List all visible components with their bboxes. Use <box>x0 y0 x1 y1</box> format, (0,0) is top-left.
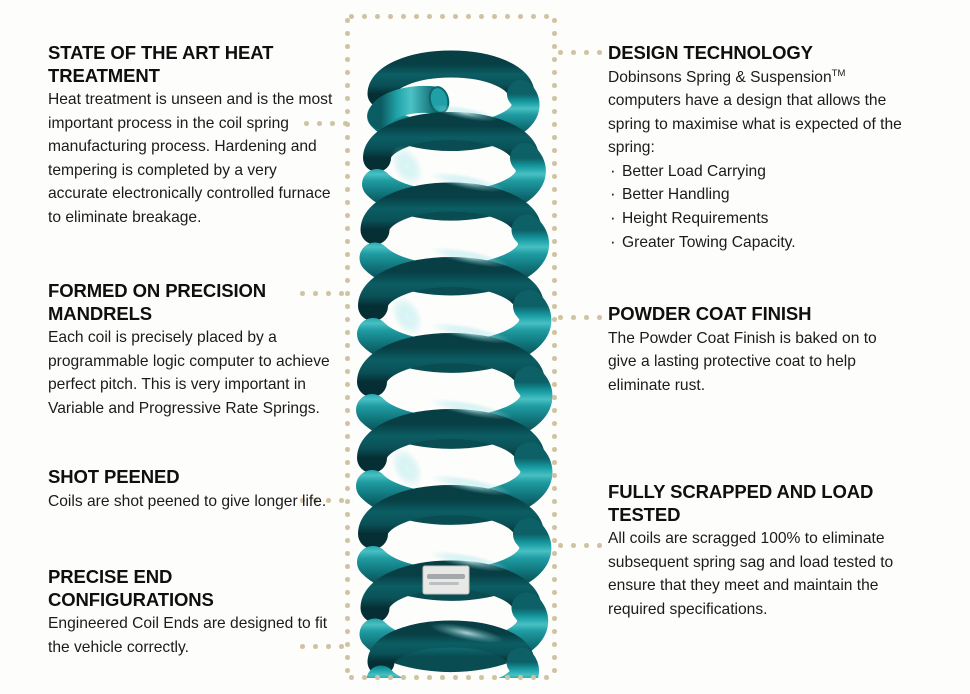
connector-powder-coat <box>554 315 608 320</box>
bullet-item: Greater Towing Capacity. <box>608 231 908 255</box>
spring-sticker <box>423 566 469 594</box>
infographic-page: STATE OF THE ART HEAT TREATMENT Heat tre… <box>0 0 970 694</box>
feature-body-heat-treatment: Heat treatment is unseen and is the most… <box>48 88 338 230</box>
coil-spring-image <box>347 16 555 678</box>
feature-body-powder-coat: The Powder Coat Finish is baked on to gi… <box>608 327 908 398</box>
design-technology-bullets: Better Load Carrying Better Handling Hei… <box>608 160 908 254</box>
feature-body-shot-peened: Coils are shot peened to give longer lif… <box>48 490 338 514</box>
feature-title-shot-peened: SHOT PEENED <box>48 466 338 489</box>
design-technology-rest: computers have a design that allows the … <box>608 92 902 156</box>
feature-title-powder-coat: POWDER COAT FINISH <box>608 303 908 326</box>
feature-block-load-tested: FULLY SCRAPPED AND LOAD TESTED All coils… <box>608 481 908 621</box>
feature-title-heat-treatment: STATE OF THE ART HEAT TREATMENT <box>48 42 338 87</box>
feature-block-design-technology: DESIGN TECHNOLOGY Dobinsons Spring & Sus… <box>608 42 908 254</box>
feature-block-mandrels: FORMED ON PRECISION MANDRELS Each coil i… <box>48 280 338 420</box>
feature-block-powder-coat: POWDER COAT FINISH The Powder Coat Finis… <box>608 303 908 397</box>
feature-body-end-config: Engineered Coil Ends are designed to fit… <box>48 612 338 659</box>
connector-load-tested <box>554 543 608 548</box>
feature-title-load-tested: FULLY SCRAPPED AND LOAD TESTED <box>608 481 908 526</box>
design-technology-lead: Dobinsons Spring & Suspension <box>608 69 832 86</box>
feature-body-load-tested: All coils are scragged 100% to eliminate… <box>608 527 908 621</box>
feature-block-shot-peened: SHOT PEENED Coils are shot peened to giv… <box>48 466 338 513</box>
feature-body-mandrels: Each coil is precisely placed by a progr… <box>48 326 338 420</box>
feature-title-design-technology: DESIGN TECHNOLOGY <box>608 42 908 65</box>
feature-body-design-technology: Dobinsons Spring & SuspensionTM computer… <box>608 66 908 160</box>
trademark-mark: TM <box>832 67 846 78</box>
feature-title-end-config: PRECISE END CONFIGURATIONS <box>48 566 338 611</box>
feature-block-end-config: PRECISE END CONFIGURATIONS Engineered Co… <box>48 566 338 659</box>
bullet-item: Better Load Carrying <box>608 160 908 184</box>
connector-design-technology <box>554 50 608 55</box>
feature-title-mandrels: FORMED ON PRECISION MANDRELS <box>48 280 338 325</box>
feature-block-heat-treatment: STATE OF THE ART HEAT TREATMENT Heat tre… <box>48 42 338 230</box>
bullet-item: Height Requirements <box>608 207 908 231</box>
bullet-item: Better Handling <box>608 183 908 207</box>
